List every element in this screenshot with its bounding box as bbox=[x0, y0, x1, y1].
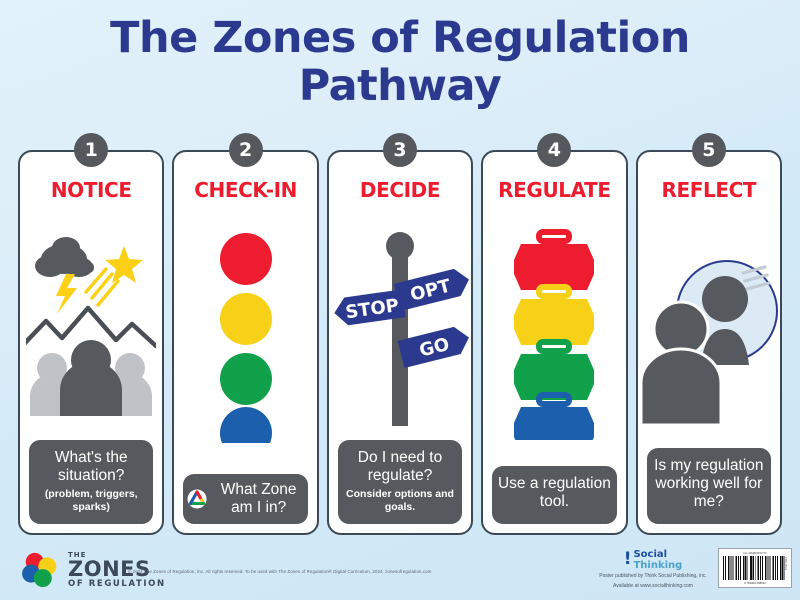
step-number-badge: 2 bbox=[229, 133, 263, 167]
step-caption: Use a regulation tool. bbox=[492, 466, 616, 524]
step-caption: Is my regulation working well for me? bbox=[647, 448, 771, 524]
caption-main-text: What Zone am I in? bbox=[213, 481, 303, 517]
caption-main-text: Use a regulation tool. bbox=[496, 475, 612, 511]
step-card-reflect[interactable]: 5 REFLECT bbox=[636, 150, 782, 535]
caption-sub-text: Consider options and goals. bbox=[342, 488, 458, 514]
caption-main-text: What's the situation? bbox=[33, 449, 149, 485]
publisher-line-2: Available at www.socialthinking.com bbox=[594, 583, 712, 590]
publisher-logo-thinking: Thinking bbox=[633, 560, 682, 571]
step-caption: What's the situation? (problem, triggers… bbox=[29, 440, 153, 524]
copyright-text: © 2024 The Zones of Regulation, inc. All… bbox=[128, 569, 431, 574]
step-title: DECIDE bbox=[360, 178, 440, 202]
publisher-line-1: Poster published by Think Social Publish… bbox=[594, 573, 712, 580]
step-title: NOTICE bbox=[51, 178, 132, 202]
footer: THE ZONES OF REGULATION © 2024 The Zones… bbox=[0, 542, 800, 600]
zones-triangle-logo-icon bbox=[187, 484, 207, 514]
step-title: REGULATE bbox=[498, 178, 611, 202]
step-card-notice[interactable]: 1 NOTICE bbox=[18, 150, 164, 535]
social-thinking-logo: ! Social Thinking bbox=[594, 548, 712, 570]
pathway-steps-row: 1 NOTICE bbox=[18, 150, 782, 535]
step-caption: Do I need to regulate? Consider options … bbox=[338, 440, 462, 524]
step-card-check-in[interactable]: 2 CHECK-IN What Zone am I in? bbox=[172, 150, 318, 535]
step-number-badge: 5 bbox=[692, 133, 726, 167]
barcode-item-text: Item #04820451770 bbox=[723, 552, 787, 555]
caption-main-text: Is my regulation working well for me? bbox=[651, 457, 767, 511]
storm-cloud-star-mountains-people-icon bbox=[26, 226, 156, 416]
reflect-illustration bbox=[638, 202, 780, 448]
step-number-badge: 1 bbox=[74, 133, 108, 167]
step-number-badge: 3 bbox=[383, 133, 417, 167]
toolbox-green bbox=[514, 342, 594, 400]
step-card-decide[interactable]: 3 DECIDE STOP OPT GO bbox=[327, 150, 473, 535]
toolbox-red bbox=[514, 232, 594, 290]
four-circles-logo-icon bbox=[20, 552, 62, 588]
publisher-logo-social: Social bbox=[633, 549, 667, 560]
caption-sub-text: (problem, triggers, sparks) bbox=[33, 488, 149, 514]
title-line-1: The Zones of Regulation bbox=[0, 14, 800, 62]
publisher-block: ! Social Thinking Poster published by Th… bbox=[594, 548, 712, 590]
barcode: Item #04820451770 9 781940 558042 POS-20… bbox=[718, 548, 792, 588]
brand-of-regulation: OF REGULATION bbox=[68, 580, 166, 589]
exclamation-icon: ! bbox=[624, 551, 632, 568]
page-title: The Zones of Regulation Pathway bbox=[0, 14, 800, 110]
title-line-2: Pathway bbox=[0, 62, 800, 110]
check-in-illustration bbox=[174, 202, 316, 474]
step-card-regulate[interactable]: 4 REGULATE bbox=[481, 150, 627, 535]
regulate-illustration bbox=[483, 202, 625, 466]
barcode-side-text: POS-2024 bbox=[784, 557, 788, 570]
notice-illustration bbox=[20, 202, 162, 440]
caption-main-text: Do I need to regulate? bbox=[342, 449, 458, 485]
step-caption: What Zone am I in? bbox=[183, 474, 307, 524]
toolbox-yellow bbox=[514, 287, 594, 345]
barcode-number-text: 9 781940 558042 bbox=[723, 581, 787, 585]
toolbox-blue bbox=[514, 395, 594, 440]
person-mirror-icon bbox=[639, 225, 779, 425]
decide-illustration: STOP OPT GO bbox=[329, 202, 471, 440]
step-title: REFLECT bbox=[662, 178, 757, 202]
four-zone-circles-icon bbox=[196, 233, 296, 443]
step-number-badge: 4 bbox=[537, 133, 571, 167]
four-toolboxes-icon bbox=[499, 228, 609, 440]
step-title: CHECK-IN bbox=[194, 178, 297, 202]
barcode-bars bbox=[723, 556, 787, 580]
signpost-stop-opt-go-icon: STOP OPT GO bbox=[330, 216, 470, 426]
